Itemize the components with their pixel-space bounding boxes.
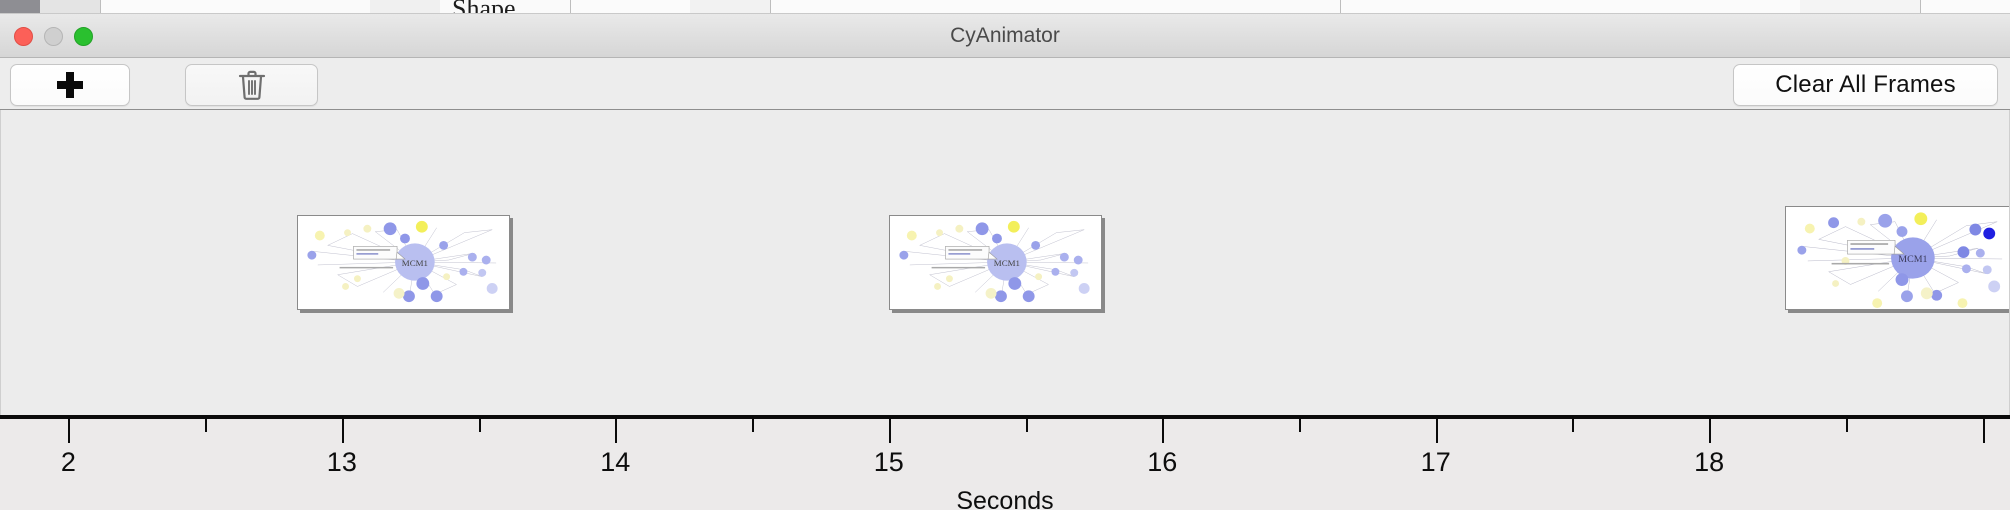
bg-tab	[1180, 0, 1341, 14]
ruler-tick-label: 18	[1694, 447, 1724, 478]
trash-icon	[238, 69, 266, 101]
window-title: CyAnimator	[0, 24, 2010, 48]
ruler-tick-label: 14	[600, 447, 630, 478]
bg-tab	[240, 0, 371, 14]
ruler-tick-minor	[1299, 419, 1301, 432]
ruler-tick-major	[615, 419, 617, 443]
ruler-tick-label: 16	[1147, 447, 1177, 478]
bg-tab	[370, 0, 441, 14]
cyanimator-window: Shape CyAnimator Clear All Frames	[0, 0, 2010, 510]
bg-tab	[0, 0, 41, 14]
title-bar: CyAnimator	[0, 14, 2010, 58]
bg-window-label: Shape	[452, 0, 516, 14]
ruler-tick-label: 15	[874, 447, 904, 478]
ruler-tick-label: 13	[327, 447, 357, 478]
ruler-tick-minor	[1572, 419, 1574, 432]
ruler-tick-minor	[205, 419, 207, 432]
timeline-canvas[interactable]: MCM1	[0, 110, 2010, 415]
ruler-tick-label: 2	[61, 447, 76, 478]
ruler-tick-minor	[1026, 419, 1028, 432]
ruler-tick-minor	[479, 419, 481, 432]
ruler-tick-major	[1162, 419, 1164, 443]
clear-all-frames-button[interactable]: Clear All Frames	[1733, 64, 1998, 106]
delete-frame-button[interactable]	[185, 64, 318, 106]
ruler-tick-label: 17	[1421, 447, 1451, 478]
bg-tab	[1800, 0, 1921, 14]
ruler-tick-minor	[1846, 419, 1848, 432]
plus-icon	[57, 72, 83, 98]
background-window-strip: Shape	[0, 0, 2010, 14]
network-thumbnail: MCM1	[1786, 207, 2010, 309]
network-thumbnail: MCM1	[298, 216, 509, 309]
ruler-tick-minor	[752, 419, 754, 432]
timeline-frame[interactable]: MCM1	[889, 215, 1102, 310]
svg-text:MCM1: MCM1	[994, 258, 1020, 268]
bg-tab	[690, 0, 771, 14]
timeline-frame-selected[interactable]: MCM1	[1785, 206, 2010, 310]
ruler-tick-major	[1709, 419, 1711, 443]
timeline-ruler: 2131415161718 Seconds	[0, 415, 2010, 510]
toolbar: Clear All Frames	[0, 58, 2010, 110]
ruler-tick-major	[68, 419, 70, 443]
bg-tab	[40, 0, 101, 14]
timeline-frame[interactable]: MCM1	[297, 215, 510, 310]
ruler-tick-major	[889, 419, 891, 443]
ruler-tick-major	[1983, 419, 1985, 443]
ruler-tick-major	[1436, 419, 1438, 443]
ruler-axis-title: Seconds	[0, 487, 2010, 510]
add-frame-button[interactable]	[10, 64, 130, 106]
ruler-tick-major	[342, 419, 344, 443]
svg-text:MCM1: MCM1	[1898, 254, 1927, 265]
clear-all-frames-label: Clear All Frames	[1775, 71, 1956, 99]
svg-text:MCM1: MCM1	[402, 258, 428, 268]
network-thumbnail: MCM1	[890, 216, 1101, 309]
